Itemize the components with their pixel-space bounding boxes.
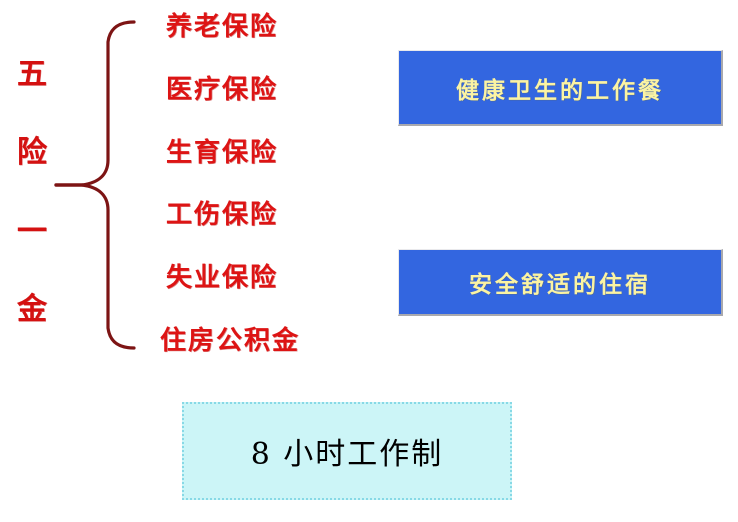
- list-item: 生育保险: [166, 140, 355, 166]
- insurance-item-list: 养老保险 医疗保险 生育保险 工伤保险 失业保险 住房公积金: [160, 14, 355, 354]
- vertical-label-char-3: 一: [17, 217, 47, 247]
- healthy-meal-box-label: 健康卫生的工作餐: [456, 71, 664, 105]
- list-item: 工伤保险: [166, 202, 355, 228]
- list-item: 养老保险: [166, 14, 355, 40]
- vertical-label-char-1: 五: [17, 60, 47, 90]
- slide-canvas: 五 险 一 金 养老保险 医疗保险 生育保险 工伤保险 失业保险 住房公积金 健…: [0, 0, 738, 522]
- safe-housing-box: 安全舒适的住宿: [398, 249, 723, 316]
- five-insurances-one-fund-label: 五 险 一 金: [8, 60, 56, 325]
- safe-housing-box-label: 安全舒适的住宿: [469, 265, 651, 299]
- curly-brace: [52, 18, 137, 352]
- vertical-label-char-2: 险: [17, 138, 47, 168]
- list-item: 失业保险: [166, 265, 355, 291]
- healthy-meal-box: 健康卫生的工作餐: [398, 50, 723, 126]
- list-item: 住房公积金: [160, 328, 355, 354]
- vertical-label-char-4: 金: [17, 295, 47, 325]
- work-hours-box-label: 8 小时工作制: [251, 429, 444, 473]
- work-hours-box: 8 小时工作制: [182, 402, 512, 500]
- curly-brace-icon: [52, 18, 137, 352]
- list-item: 医疗保险: [166, 77, 355, 103]
